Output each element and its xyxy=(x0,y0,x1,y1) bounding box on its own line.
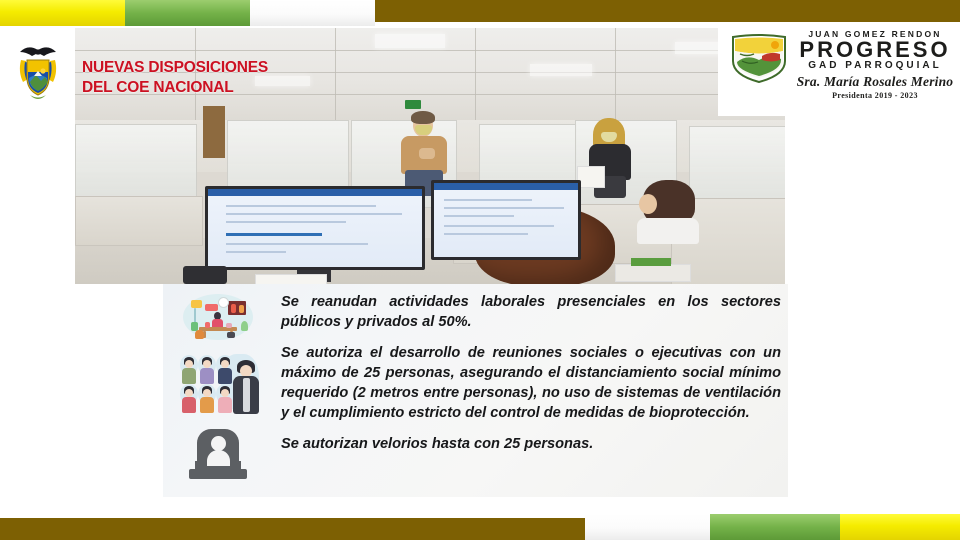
bottom-decorative-bar xyxy=(0,514,960,540)
photo-monitor-left xyxy=(205,186,425,270)
measures-icon-column xyxy=(163,284,275,497)
measure-text-1: Se reanudan actividades laborales presen… xyxy=(281,292,781,332)
bottom-bar-segment-brown xyxy=(0,518,585,540)
logo-president-term: Presidenta 2019 - 2023 xyxy=(794,91,956,100)
photo-green-folder xyxy=(631,258,671,266)
bottom-bar-segment-yellow xyxy=(840,514,960,540)
top-decorative-bar xyxy=(0,0,960,26)
photo-papers xyxy=(615,264,691,282)
page-title: NUEVAS DISPOSICIONES DEL COE NACIONAL xyxy=(82,58,412,98)
bottom-bar-segment-white xyxy=(585,514,710,540)
ecuador-coat-of-arms-icon xyxy=(10,38,66,104)
photo-cubicle-wall xyxy=(75,196,203,246)
top-bar-segment-yellow xyxy=(0,0,125,26)
progreso-logo-block: JUAN GOMEZ RENDON PROGRESO GAD PARROQUIA… xyxy=(718,24,960,116)
top-bar-segment-green xyxy=(125,0,250,26)
measure-text-3: Se autorizan velorios hasta con 25 perso… xyxy=(281,434,781,454)
logo-president-name: Sra. María Rosales Merino xyxy=(794,74,956,90)
photo-glass-partition xyxy=(75,124,197,200)
photo-papers xyxy=(255,274,327,284)
photo-person-seated-woman xyxy=(635,180,713,242)
office-workspace-icon xyxy=(183,294,253,340)
top-bar-segment-brown xyxy=(375,0,960,22)
photo-phone xyxy=(183,266,227,284)
logo-text-group: JUAN GOMEZ RENDON PROGRESO GAD PARROQUIA… xyxy=(794,29,956,100)
measures-text-column: Se reanudan actividades laborales presen… xyxy=(281,292,781,454)
top-bar-segment-white xyxy=(250,0,375,26)
bottom-bar-segment-green xyxy=(710,514,840,540)
photo-exit-sign xyxy=(405,100,421,109)
funeral-urn-icon xyxy=(187,429,249,485)
logo-line-sub: GAD PARROQUIAL xyxy=(794,60,956,71)
page-title-line1: NUEVAS DISPOSICIONES xyxy=(82,58,412,78)
measures-panel: Se reanudan actividades laborales presen… xyxy=(163,284,788,497)
slide-root: NUEVAS DISPOSICIONES DEL COE NACIONAL JU… xyxy=(0,0,960,540)
page-title-line2: DEL COE NACIONAL xyxy=(82,78,412,98)
photo-person-standing-woman xyxy=(581,120,639,198)
group-of-people-icon xyxy=(179,352,259,416)
logo-line-main: PROGRESO xyxy=(794,38,956,61)
measure-text-2: Se autoriza el desarrollo de reuniones s… xyxy=(281,343,781,423)
photo-monitor-right xyxy=(431,180,581,260)
photo-door xyxy=(203,106,225,158)
progreso-crest-icon xyxy=(728,32,790,84)
